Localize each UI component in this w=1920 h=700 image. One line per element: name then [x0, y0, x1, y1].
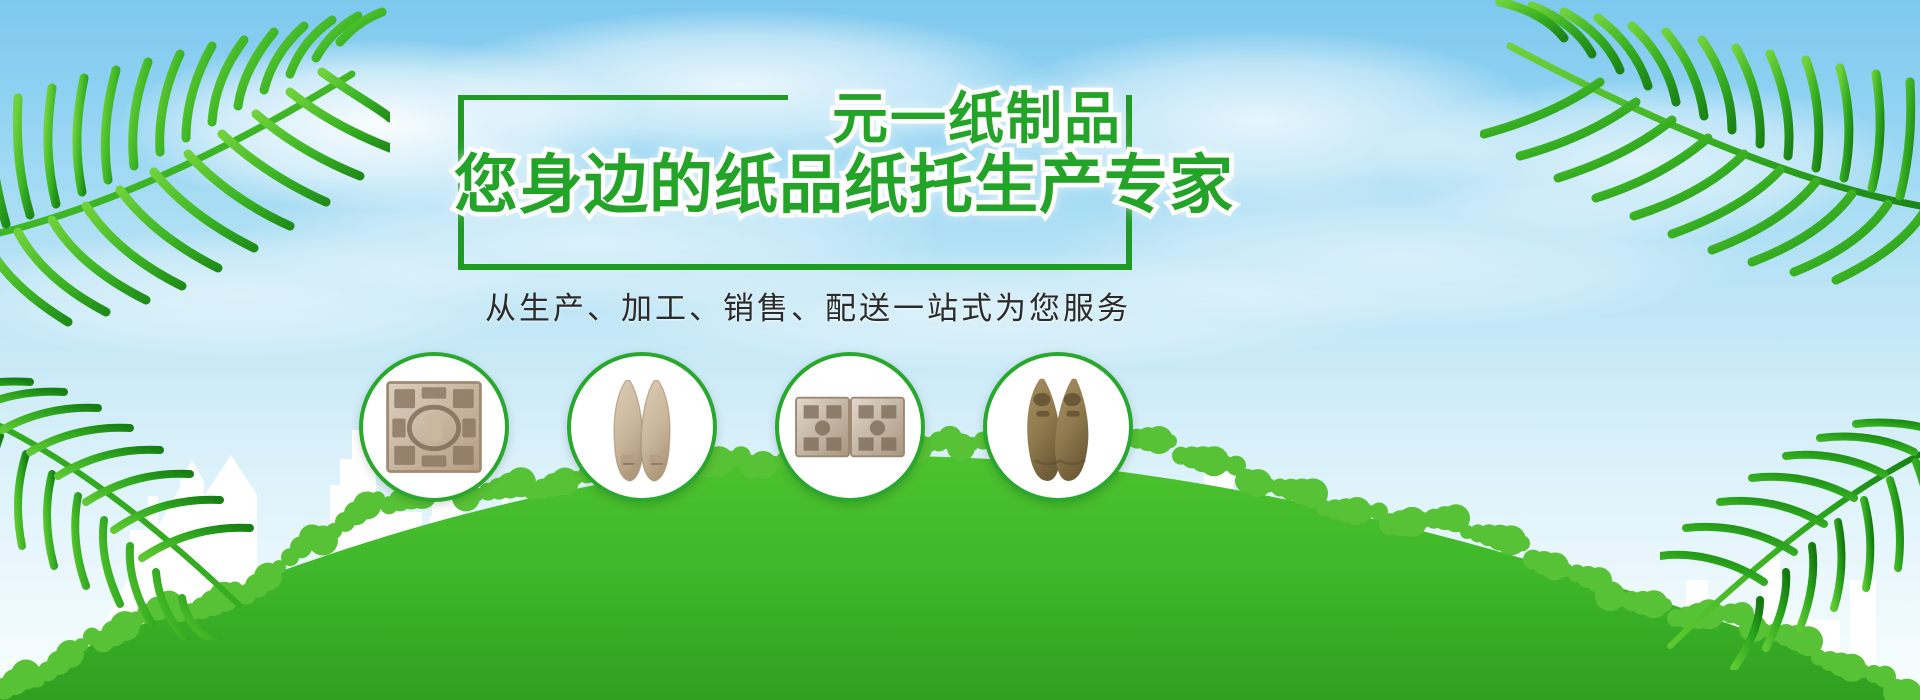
molded-pulp-tray-square-icon [363, 356, 505, 498]
molded-pulp-shoe-inserts-icon [571, 356, 713, 498]
product-circle-molded-pulp-shoe-forms[interactable] [983, 352, 1133, 502]
page-title: 您身边的纸品纸托生产专家 [454, 147, 1234, 225]
frame-line-top [458, 95, 788, 100]
frame-line-bottom [458, 264, 1132, 270]
palm-leaf-icon [1480, 0, 1920, 290]
subtitle: 从生产、加工、销售、配送一站式为您服务 [485, 283, 1125, 328]
product-circle-molded-pulp-packaging-pair[interactable] [775, 352, 925, 502]
product-circle-molded-pulp-tray-square[interactable] [359, 352, 509, 502]
product-gallery [0, 352, 1920, 512]
headline-frame: 元一纸制品 您身边的纸品纸托生产专家 [432, 95, 1132, 270]
molded-pulp-packaging-pair-icon [779, 356, 921, 498]
product-circle-molded-pulp-shoe-inserts[interactable] [567, 352, 717, 502]
promo-banner: 元一纸制品 您身边的纸品纸托生产专家 从生产、加工、销售、配送一站式为您服务 [0, 0, 1920, 700]
cloud-decor [1380, 80, 1900, 240]
molded-pulp-shoe-forms-icon [987, 356, 1129, 498]
brand-title: 元一纸制品 [832, 87, 1122, 153]
